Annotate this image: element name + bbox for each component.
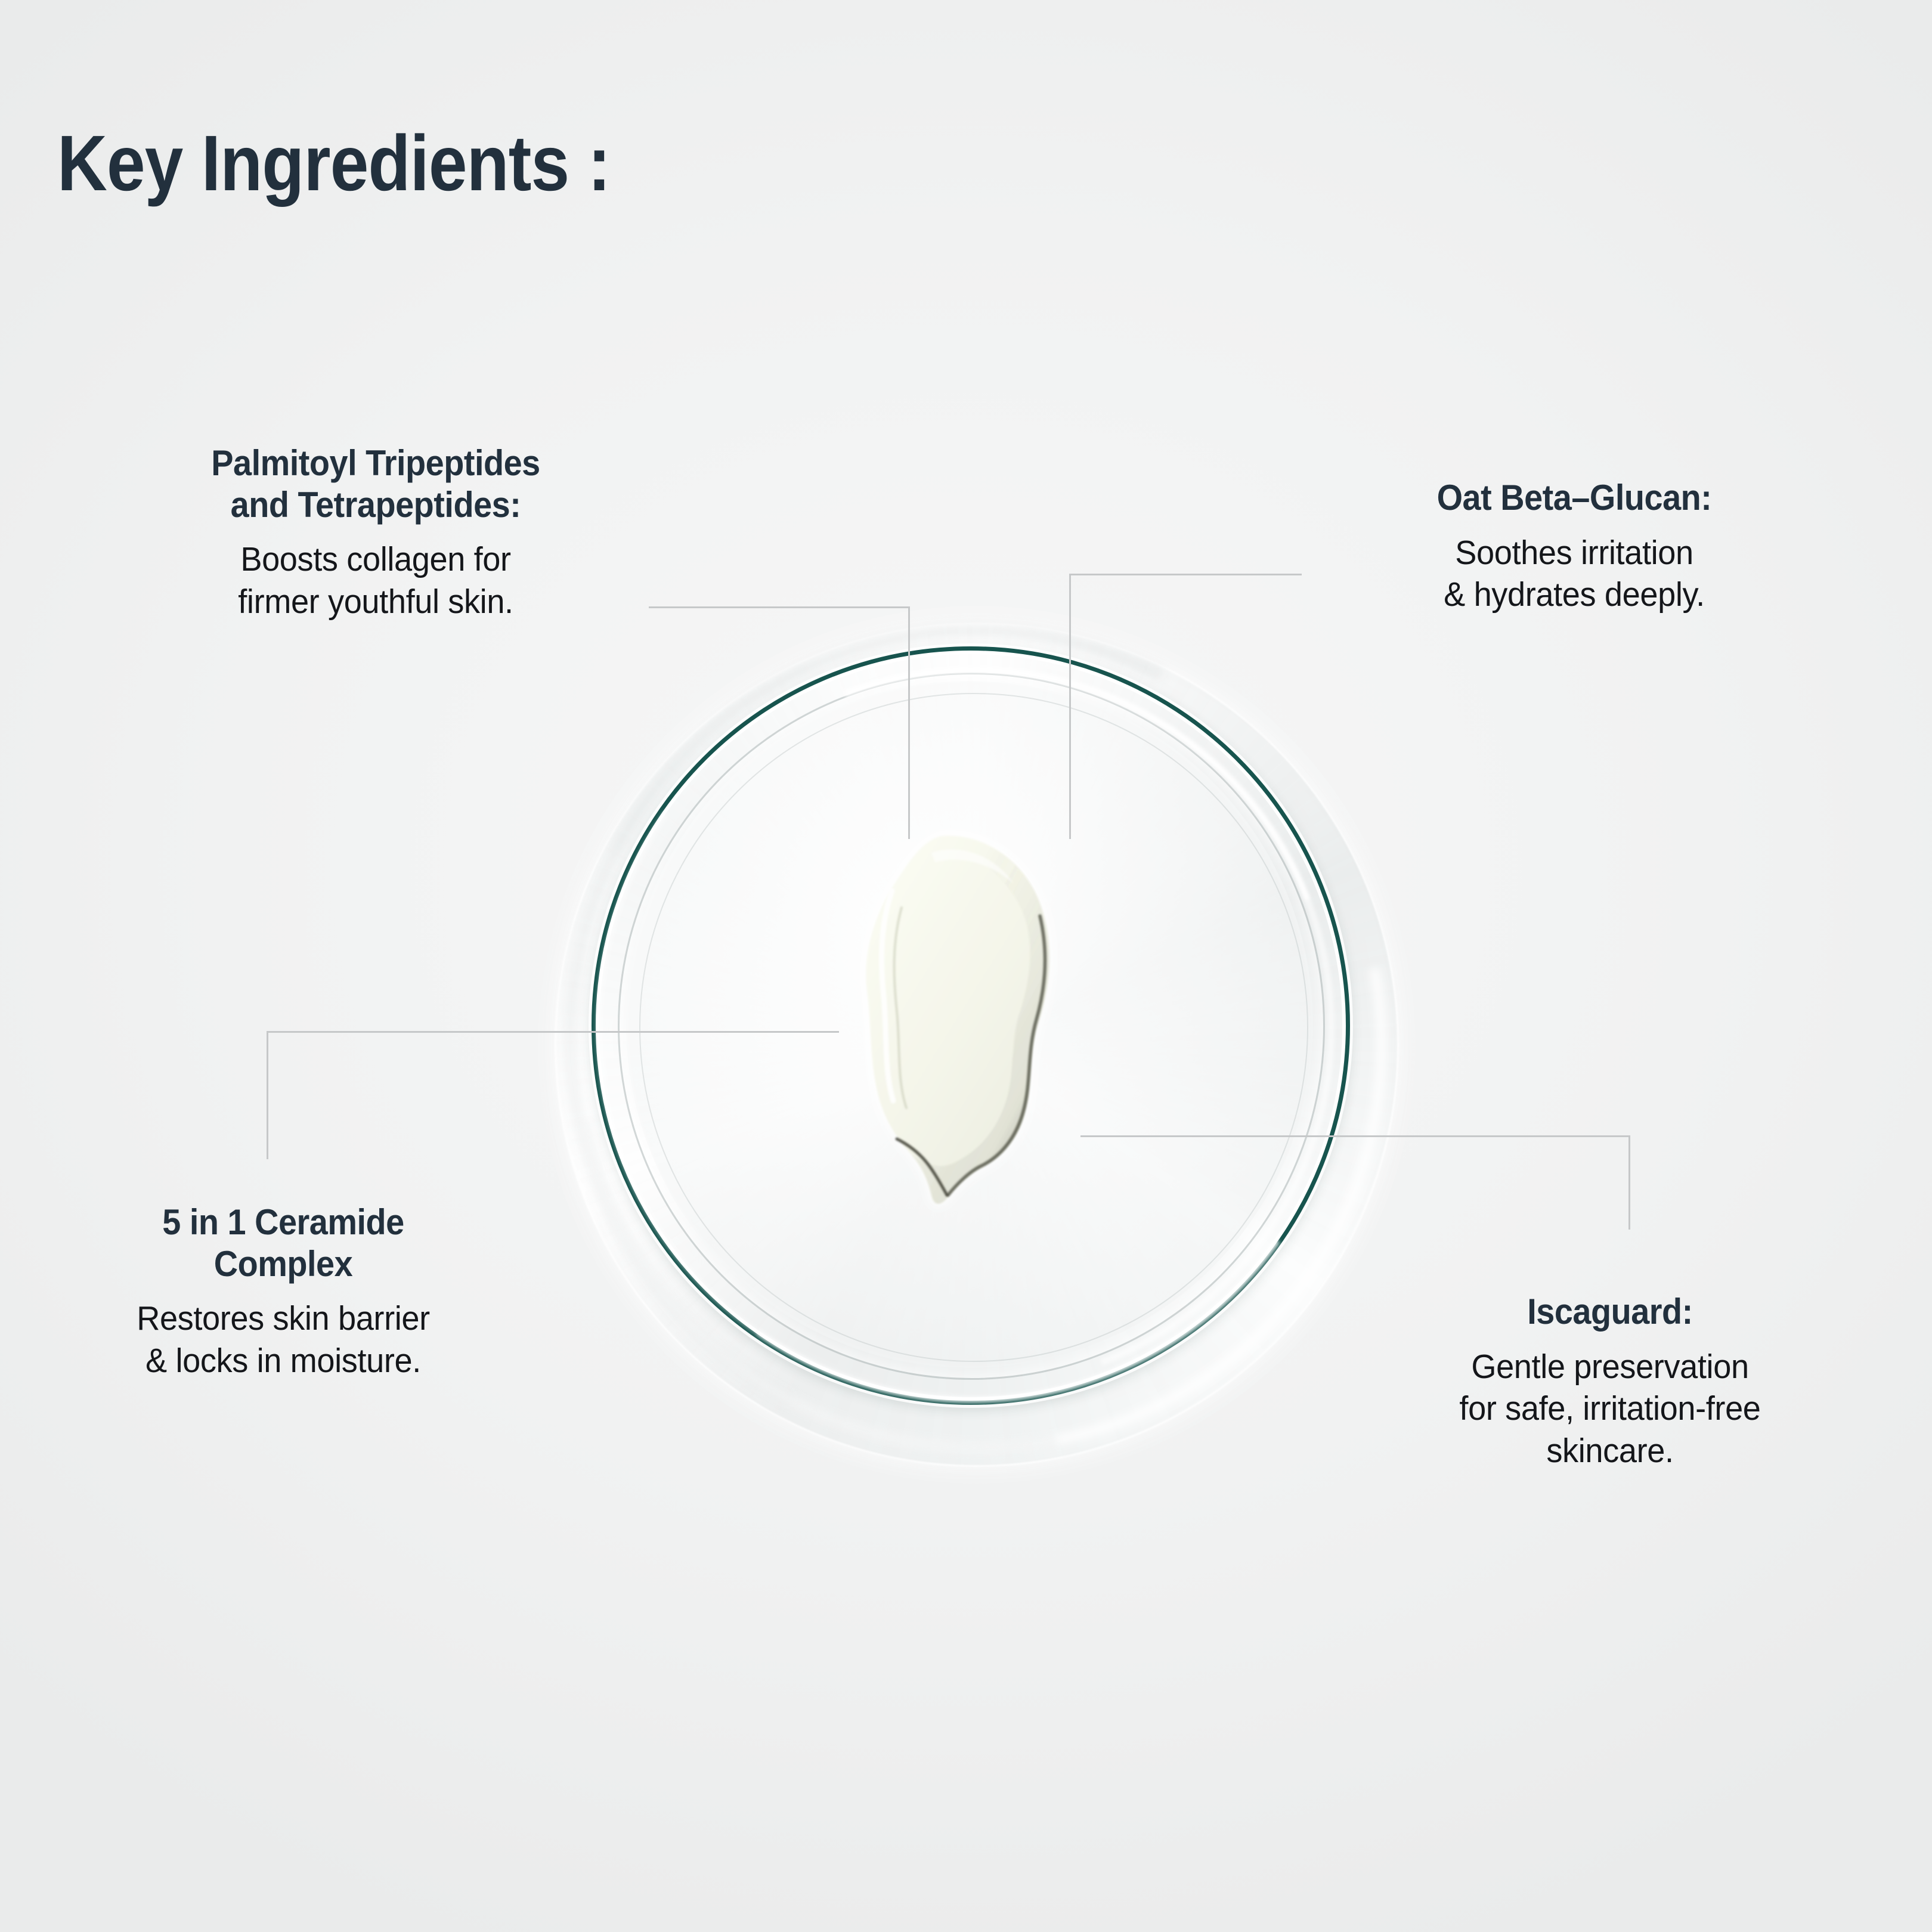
- callout-oat-beta-glucan: Oat Beta–Glucan: Soothes irritation & hy…: [1306, 477, 1843, 616]
- connector-oat-vertical: [1069, 574, 1071, 839]
- callout-ceramide-heading-line1: 5 in 1 Ceramide: [53, 1202, 513, 1243]
- callout-iscaguard-body: Gentle preservation for safe, irritation…: [1372, 1346, 1848, 1472]
- callout-ceramide-body-line1: Restores skin barrier: [48, 1298, 519, 1340]
- connector-palmitoyl-horizontal: [649, 606, 910, 608]
- callout-iscaguard-heading-line1: Iscaguard:: [1377, 1291, 1843, 1333]
- callout-oat-heading: Oat Beta–Glucan:: [1325, 477, 1824, 519]
- cream-swatch-svg: [830, 829, 1092, 1240]
- connector-palmitoyl-vertical: [908, 606, 910, 839]
- callout-iscaguard-heading: Iscaguard:: [1377, 1291, 1843, 1333]
- callout-ceramide-heading-line2: Complex: [53, 1243, 513, 1285]
- infographic-canvas: Key Ingredients :: [0, 0, 1932, 1932]
- connector-oat-horizontal: [1069, 574, 1302, 575]
- callout-palmitoyl-body: Boosts collagen for firmer youthful skin…: [92, 538, 659, 623]
- callout-ceramide-body: Restores skin barrier & locks in moistur…: [48, 1298, 519, 1382]
- callout-ceramide-complex: 5 in 1 Ceramide Complex Restores skin ba…: [36, 1202, 531, 1382]
- page-title: Key Ingredients :: [57, 124, 610, 203]
- callout-palmitoyl-tripeptides: Palmitoyl Tripeptides and Tetrapeptides:…: [78, 442, 674, 623]
- callout-ceramide-body-line2: & locks in moisture.: [48, 1340, 519, 1382]
- connector-iscaguard-vertical: [1628, 1135, 1630, 1230]
- callout-oat-heading-line1: Oat Beta–Glucan:: [1325, 477, 1824, 519]
- callout-palmitoyl-heading-line2: and Tetrapeptides:: [98, 484, 653, 526]
- callout-iscaguard: Iscaguard: Gentle preservation for safe,…: [1360, 1291, 1860, 1472]
- callout-iscaguard-body-line3: skincare.: [1372, 1430, 1848, 1472]
- callout-palmitoyl-body-line2: firmer youthful skin.: [92, 581, 659, 623]
- connector-ceramide-vertical: [267, 1031, 268, 1159]
- callout-palmitoyl-heading: Palmitoyl Tripeptides and Tetrapeptides:: [98, 442, 653, 525]
- callout-iscaguard-body-line2: for safe, irritation-free: [1372, 1388, 1848, 1430]
- callout-palmitoyl-heading-line1: Palmitoyl Tripeptides: [98, 442, 653, 484]
- callout-ceramide-heading: 5 in 1 Ceramide Complex: [53, 1202, 513, 1284]
- callout-iscaguard-body-line1: Gentle preservation: [1372, 1346, 1848, 1388]
- cream-swatch-image: [830, 829, 1092, 1240]
- callout-palmitoyl-body-line1: Boosts collagen for: [92, 538, 659, 581]
- connector-iscaguard-horizontal: [1080, 1135, 1630, 1137]
- callout-oat-body: Soothes irritation & hydrates deeply.: [1320, 532, 1829, 616]
- callout-oat-body-line1: Soothes irritation: [1320, 532, 1829, 574]
- connector-ceramide-horizontal: [267, 1031, 839, 1033]
- callout-oat-body-line2: & hydrates deeply.: [1320, 574, 1829, 616]
